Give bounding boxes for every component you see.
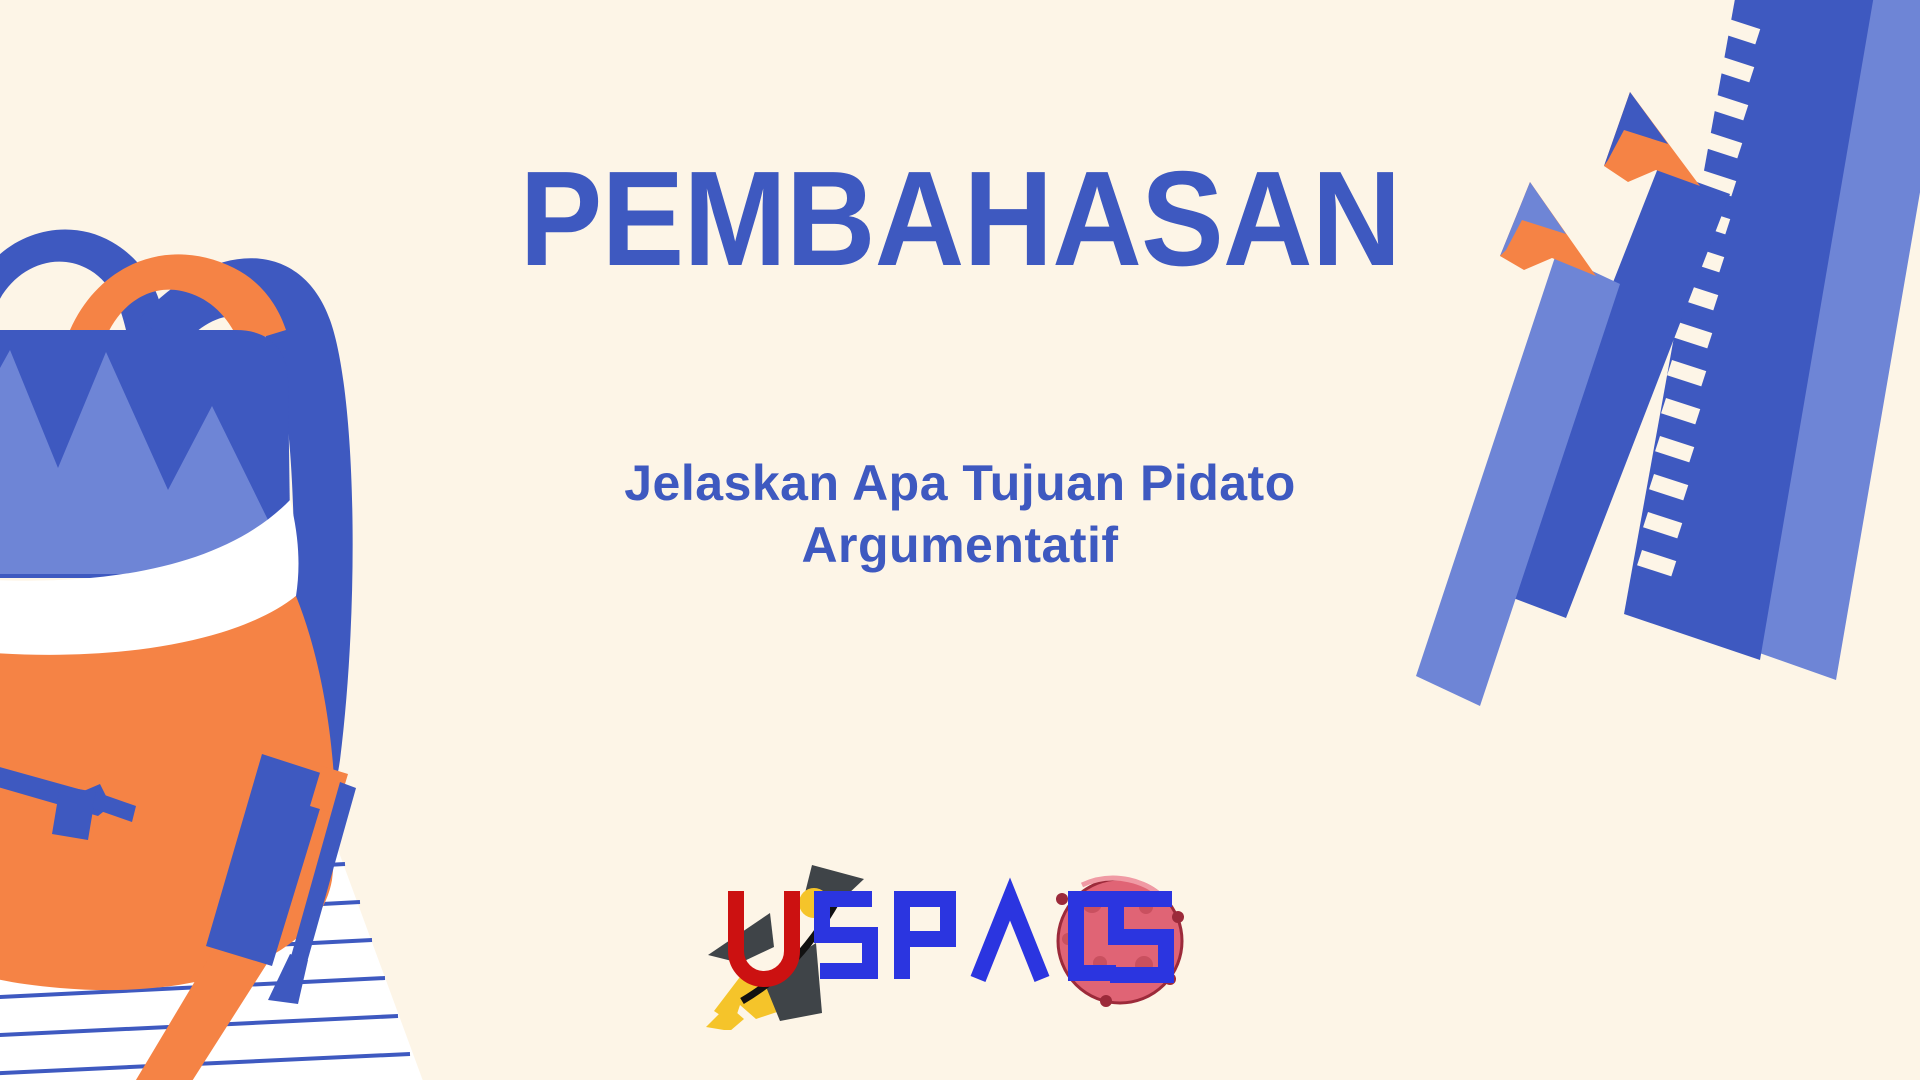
page-title: PEMBAHASAN — [77, 148, 1843, 290]
slide-text-layer: PEMBAHASAN Jelaskan Apa Tujuan Pidato Ar… — [0, 0, 1920, 1080]
slide-canvas: PEMBAHASAN Jelaskan Apa Tujuan Pidato Ar… — [0, 0, 1920, 1080]
slide-subtitle: Jelaskan Apa Tujuan Pidato Argumentatif — [470, 452, 1450, 576]
